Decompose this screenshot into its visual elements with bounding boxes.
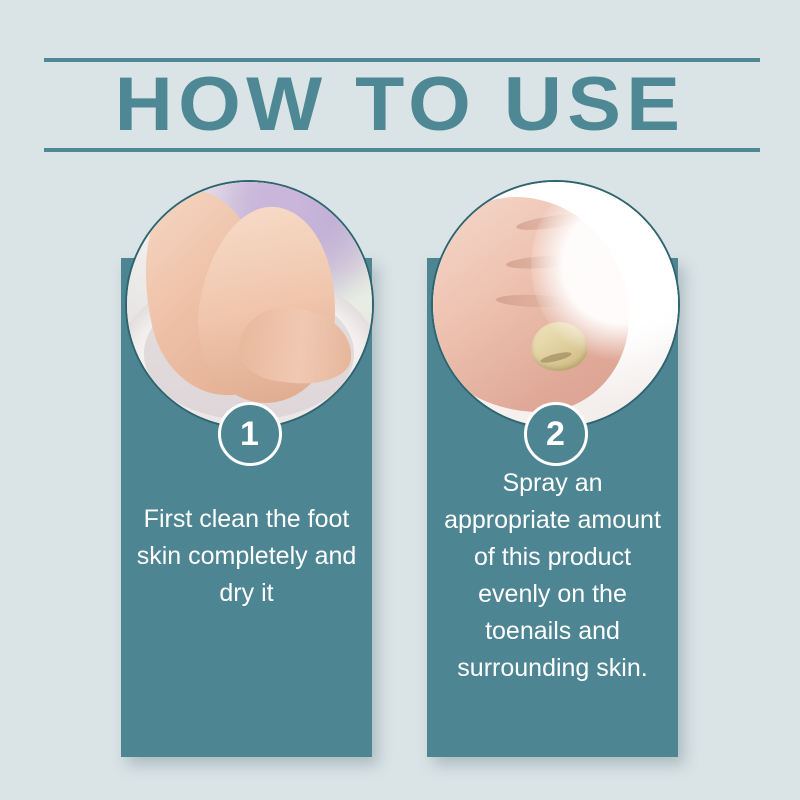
step-card-1: 1 First clean the foot skin completely a… bbox=[121, 258, 372, 757]
step-1-photo-frame bbox=[125, 180, 374, 429]
step-2-number-badge: 2 bbox=[524, 402, 588, 466]
toenail-closeup-photo bbox=[433, 182, 678, 427]
step-card-2: 2 Spray an appropriate amount of this pr… bbox=[427, 258, 678, 757]
steps-container: 1 First clean the foot skin completely a… bbox=[0, 0, 800, 800]
step-1-number-badge: 1 bbox=[218, 402, 282, 466]
step-1-caption: First clean the foot skin completely and… bbox=[135, 501, 358, 612]
step-2-caption: Spray an appropriate amount of this prod… bbox=[441, 465, 664, 687]
step-2-photo-frame bbox=[431, 180, 680, 429]
feet-soaking-in-basin-photo bbox=[127, 182, 372, 427]
